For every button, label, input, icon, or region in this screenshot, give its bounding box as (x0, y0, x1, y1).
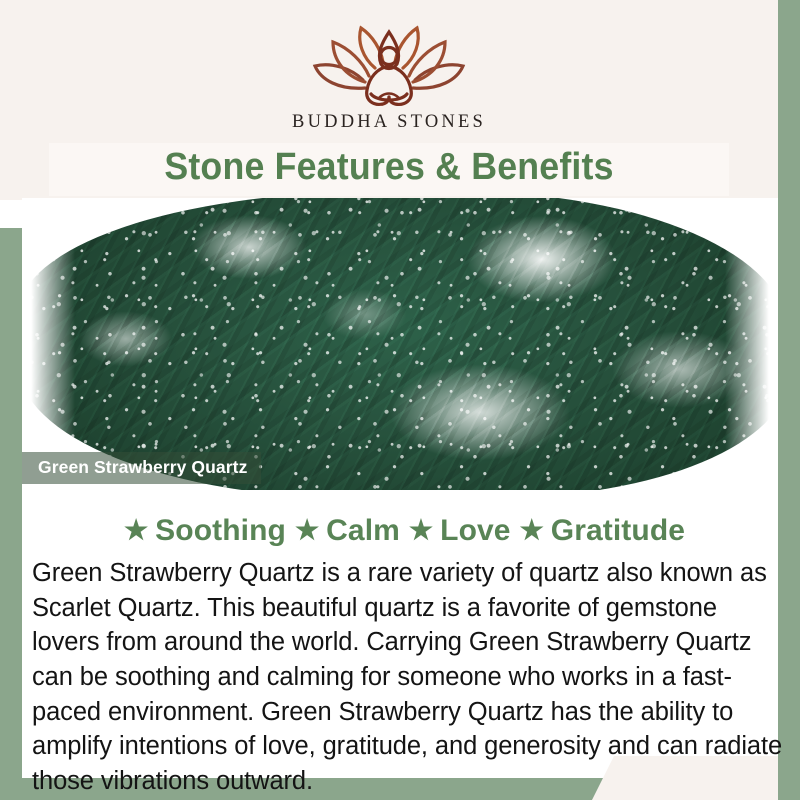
feature-label: Love (440, 516, 510, 546)
star-icon: ★ (124, 517, 148, 544)
feature-list: ★ Soothing ★ Calm ★ Love ★ Gratitude (22, 516, 778, 546)
page-title: Stone Features & Benefits (69, 147, 708, 188)
photo-caption: Green Strawberry Quartz (22, 452, 261, 484)
brand-name: BUDDHA STONES (292, 112, 486, 133)
feature-label: Gratitude (551, 516, 685, 546)
feature-item-soothing: ★ Soothing (115, 516, 286, 546)
infographic-card: BUDDHA STONES Stone Features & Benefits … (0, 0, 800, 800)
feature-label: Soothing (155, 516, 286, 546)
card-header: BUDDHA STONES Stone Features & Benefits (0, 0, 778, 200)
feature-item-gratitude: ★ Gratitude (511, 516, 685, 546)
description-paragraph: Green Strawberry Quartz is a rare variet… (32, 556, 784, 799)
feature-item-love: ★ Love (400, 516, 511, 546)
stone-photo-block: Green Strawberry Quartz (22, 198, 778, 490)
frame-bar-left (0, 228, 22, 800)
star-icon: ★ (295, 517, 319, 544)
photo-edge-fade (22, 198, 778, 490)
feature-label: Calm (326, 516, 400, 546)
feature-item-calm: ★ Calm (286, 516, 400, 546)
lotus-meditation-icon (305, 18, 473, 110)
star-icon: ★ (409, 517, 433, 544)
title-banner: Stone Features & Benefits (49, 143, 729, 196)
star-icon: ★ (520, 517, 544, 544)
brand-logo: BUDDHA STONES (292, 18, 486, 133)
